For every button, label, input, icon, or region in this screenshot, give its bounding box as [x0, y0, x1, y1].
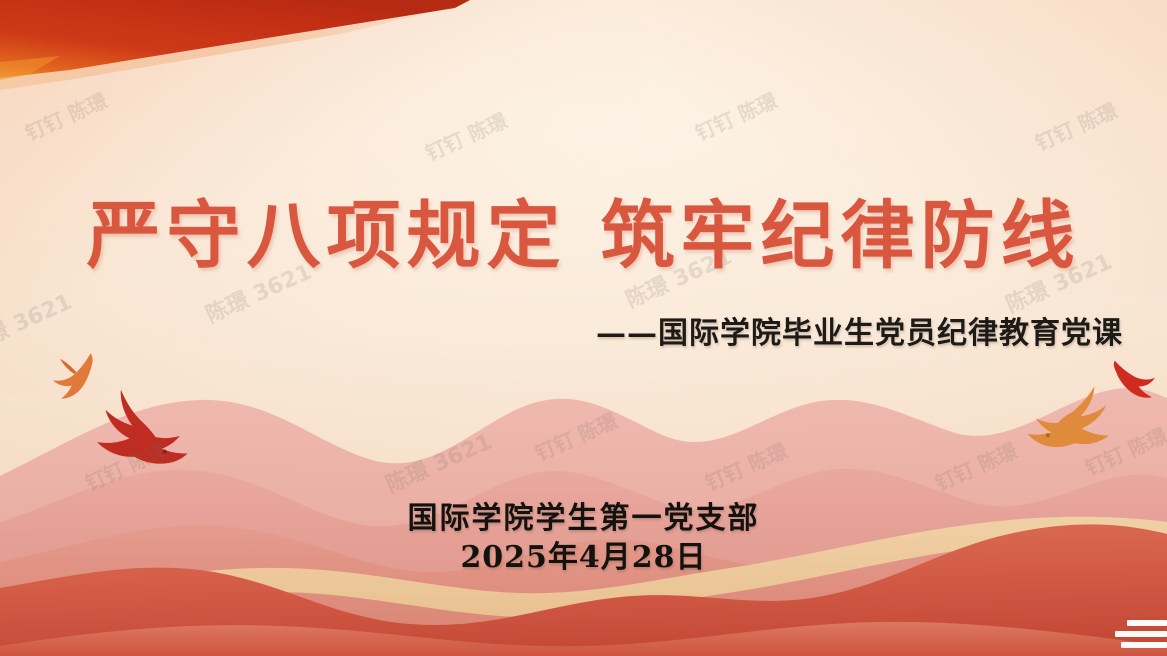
presentation-date: 2025年4月28日: [0, 538, 1167, 577]
slide-title-part-2: 筑牢纪律防线: [601, 193, 1081, 279]
player-stripe-2: [1115, 631, 1167, 637]
slide-title: 严守八项规定筑牢纪律防线: [0, 176, 1167, 283]
slide-title-part-1: 严守八项规定: [87, 193, 567, 279]
slide-subtitle: ——国际学院毕业生党员纪律教育党课: [596, 308, 1123, 352]
organization-name: 国际学院学生第一党支部: [0, 500, 1167, 538]
player-progress-icon[interactable]: [1115, 620, 1167, 650]
slide-footer: 国际学院学生第一党支部 2025年4月28日: [0, 500, 1167, 577]
top-red-ribbon: [0, 0, 1167, 170]
dove-icon: [81, 384, 197, 477]
dove-icon: [1102, 353, 1165, 407]
player-stripe-1: [1127, 620, 1167, 626]
player-stripe-3: [1121, 642, 1167, 648]
presentation-slide: 钉钉 陈璟 陈璟 3621 钉钉 陈璟 陈璟 3621 钉钉 陈璟 钉钉 陈璟 …: [0, 0, 1167, 656]
